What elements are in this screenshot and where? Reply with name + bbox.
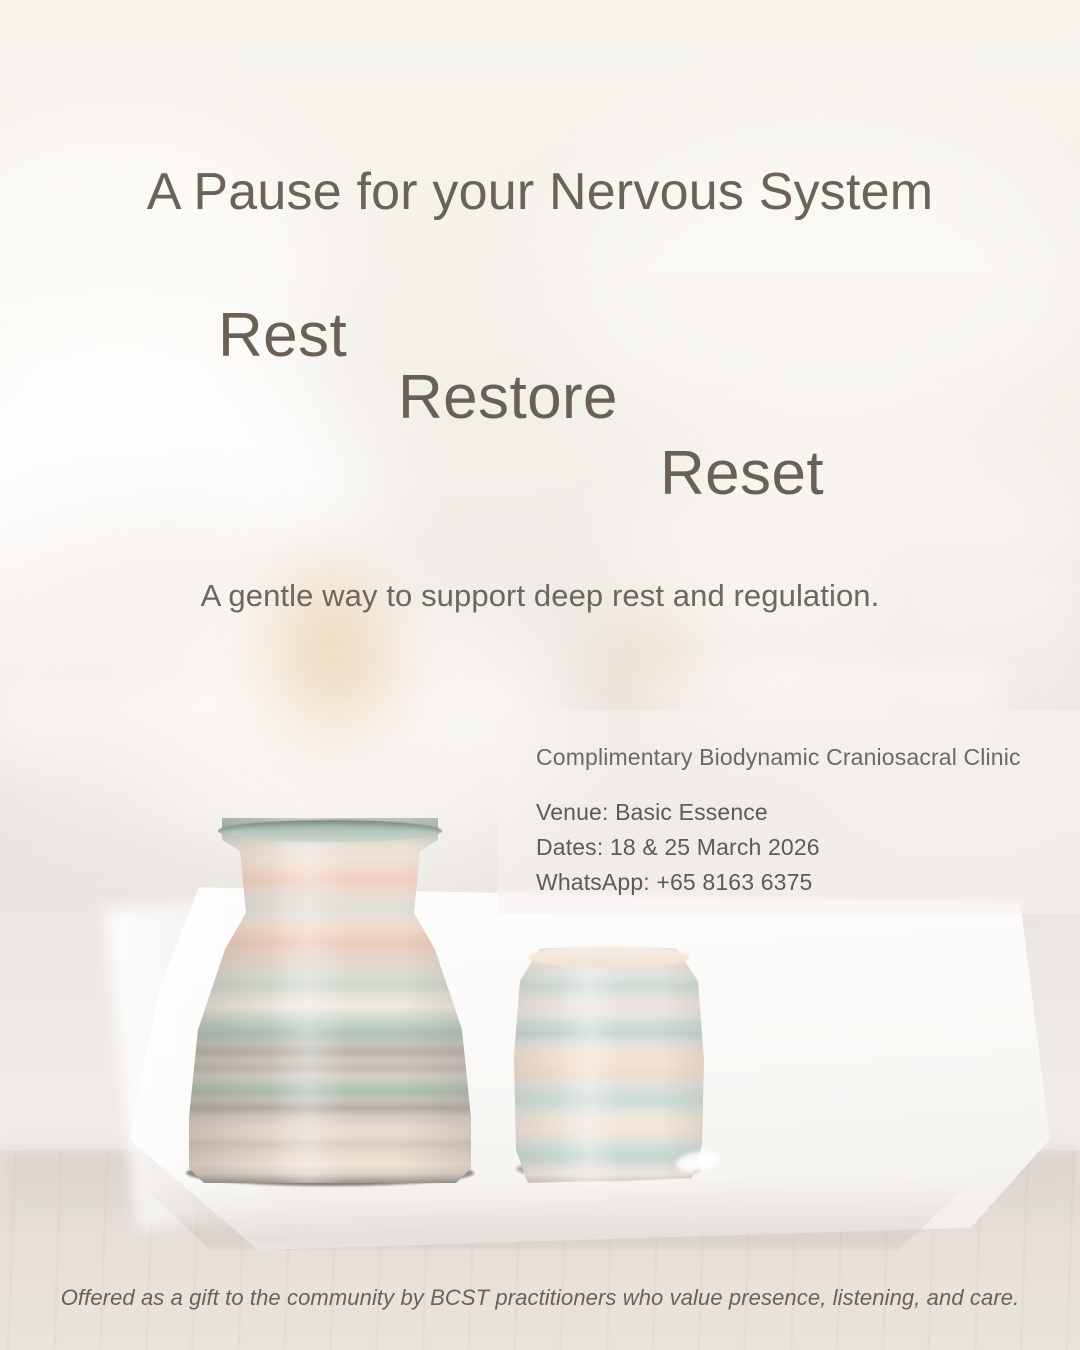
- event-dates: Dates: 18 & 25 March 2026: [536, 830, 1080, 865]
- vase-highlight: [270, 818, 348, 1183]
- subtitle: A gentle way to support deep rest and re…: [0, 578, 1080, 614]
- event-heading: Complimentary Biodynamic Craniosacral Cl…: [536, 744, 1080, 771]
- keyword-rest: Rest: [218, 300, 347, 371]
- keyword-restore: Restore: [398, 362, 618, 433]
- event-whatsapp[interactable]: WhatsApp: +65 8163 6375: [536, 865, 1080, 900]
- cloth-shadow: [80, 1180, 1010, 1250]
- cup-highlight: [560, 948, 620, 1183]
- event-details-panel: Complimentary Biodynamic Craniosacral Cl…: [498, 710, 1080, 914]
- page-title: A Pause for your Nervous System: [0, 162, 1080, 222]
- footnote: Offered as a gift to the community by BC…: [0, 1285, 1080, 1311]
- event-venue: Venue: Basic Essence: [536, 795, 1080, 830]
- vase-rim: [218, 820, 442, 842]
- keyword-reset: Reset: [660, 438, 824, 509]
- cup-rim: [528, 946, 690, 968]
- warm-glow: [600, 610, 700, 720]
- blurred-bedding: [0, 690, 520, 780]
- small-striped-ceramic-cup: [508, 948, 708, 1183]
- poster: A Pause for your Nervous System Rest Res…: [0, 0, 1080, 1350]
